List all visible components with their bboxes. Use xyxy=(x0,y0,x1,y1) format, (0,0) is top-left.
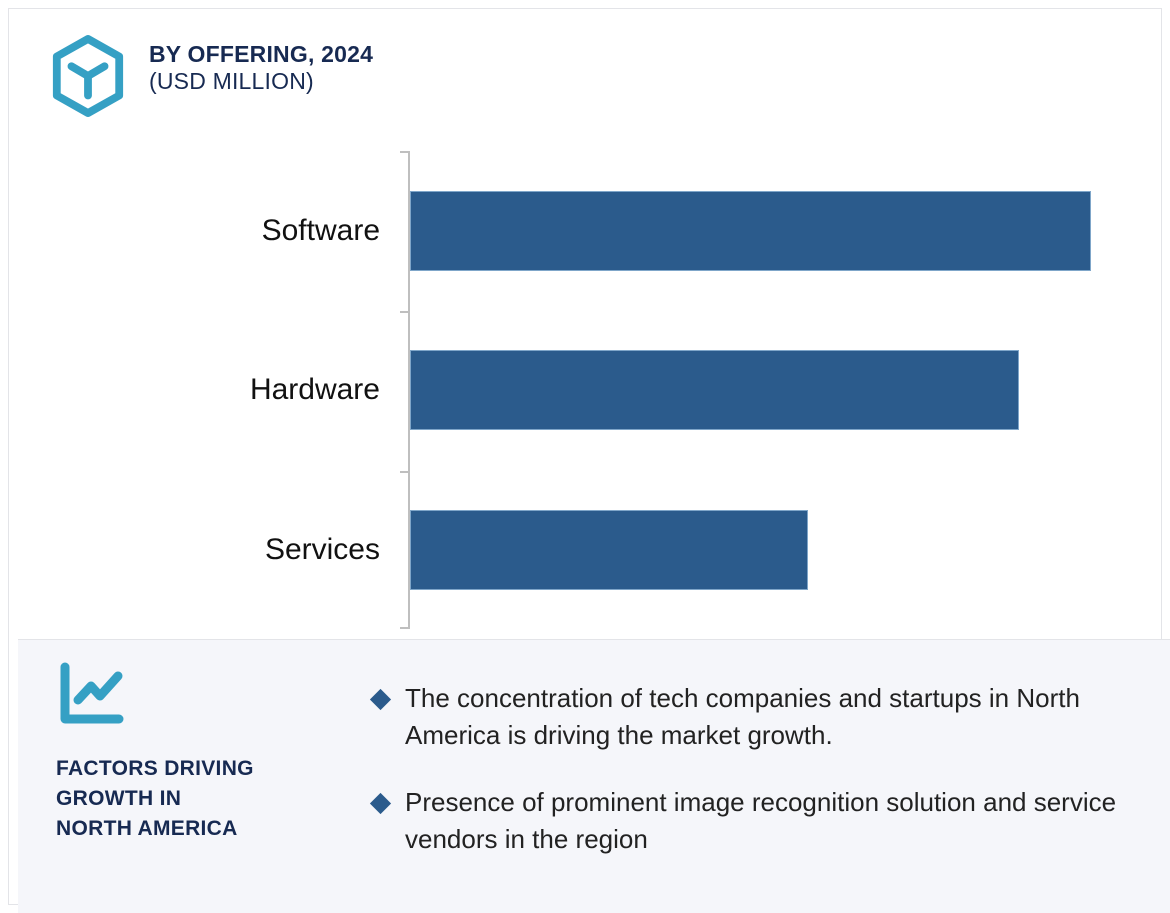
factors-bullet-list: The concentration of tech companies and … xyxy=(373,680,1153,858)
axis-tick-1 xyxy=(400,311,409,313)
card-header: BY OFFERING, 2024 (USD MILLION) xyxy=(49,33,373,117)
axis-tick-0 xyxy=(400,151,409,153)
bar-label-software: Software xyxy=(262,216,380,246)
chart-subtitle: (USD MILLION) xyxy=(149,68,373,95)
bar-chart: Software Hardware Services xyxy=(9,139,1163,639)
list-item: The concentration of tech companies and … xyxy=(373,680,1153,754)
bar-label-services: Services xyxy=(265,535,380,565)
diamond-bullet-icon xyxy=(370,793,391,814)
bar-software[interactable] xyxy=(410,191,1091,271)
title-block: BY OFFERING, 2024 (USD MILLION) xyxy=(149,33,373,95)
bar-services[interactable] xyxy=(410,510,808,590)
diamond-bullet-icon xyxy=(370,689,391,710)
bar-row-services: Services xyxy=(9,510,1163,590)
chart-title: BY OFFERING, 2024 xyxy=(149,41,373,68)
card-frame: BY OFFERING, 2024 (USD MILLION) Software… xyxy=(8,8,1162,905)
bar-row-hardware: Hardware xyxy=(9,350,1163,430)
factors-heading-line-2: GROWTH IN xyxy=(56,784,336,814)
axis-tick-2 xyxy=(400,471,409,473)
bullet-text-1: The concentration of tech companies and … xyxy=(405,680,1153,754)
factors-panel: FACTORS DRIVING GROWTH IN NORTH AMERICA … xyxy=(18,639,1170,913)
factors-heading-line-1: FACTORS DRIVING xyxy=(56,754,336,784)
factors-panel-heading: FACTORS DRIVING GROWTH IN NORTH AMERICA xyxy=(56,754,336,843)
bullet-text-2: Presence of prominent image recognition … xyxy=(405,784,1153,858)
factors-heading-line-3: NORTH AMERICA xyxy=(56,814,336,844)
factors-panel-left: FACTORS DRIVING GROWTH IN NORTH AMERICA xyxy=(56,662,336,843)
hexagon-cube-icon xyxy=(49,35,127,117)
line-chart-icon xyxy=(56,662,336,728)
bar-row-software: Software xyxy=(9,191,1163,271)
axis-tick-3 xyxy=(400,627,409,629)
list-item: Presence of prominent image recognition … xyxy=(373,784,1153,858)
bar-hardware[interactable] xyxy=(410,350,1019,430)
bar-label-hardware: Hardware xyxy=(250,375,380,405)
chart-card: BY OFFERING, 2024 (USD MILLION) Software… xyxy=(0,0,1170,913)
